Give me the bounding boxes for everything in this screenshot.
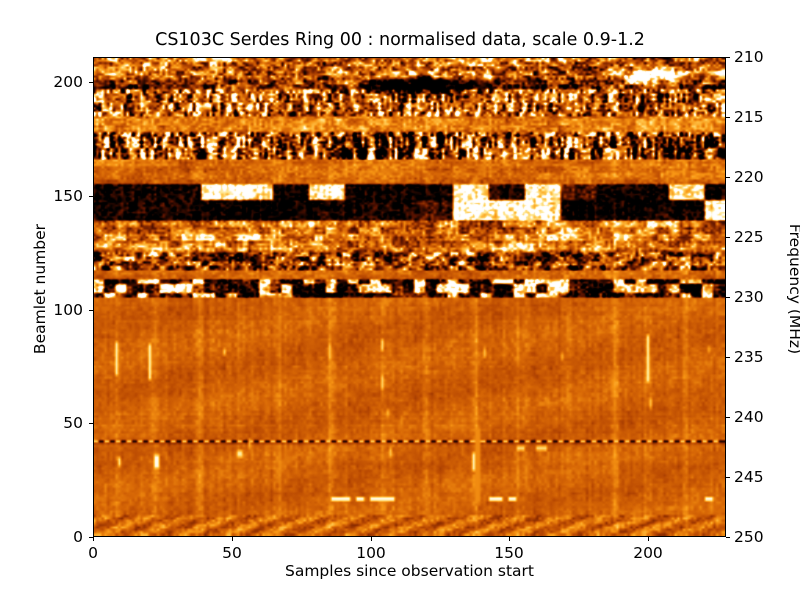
x-tick-mark	[509, 537, 510, 541]
x-tick-label: 100	[331, 544, 411, 562]
y-tick-mark-right	[726, 477, 730, 478]
y-tick-mark-left	[89, 310, 93, 311]
y-tick-label-left: 200	[23, 73, 83, 91]
x-tick-mark	[232, 537, 233, 541]
y-tick-mark-right	[726, 417, 730, 418]
y-tick-label-right: 225	[734, 228, 794, 246]
x-tick-label: 0	[53, 544, 133, 562]
y-tick-mark-right	[726, 177, 730, 178]
y-tick-label-left: 50	[23, 414, 83, 432]
y-tick-label-right: 235	[734, 348, 794, 366]
y-tick-mark-right	[726, 237, 730, 238]
axes-frame	[93, 57, 726, 537]
x-tick-mark	[371, 537, 372, 541]
y-tick-label-right: 245	[734, 468, 794, 486]
y-tick-label-right: 220	[734, 168, 794, 186]
y-tick-mark-right	[726, 537, 730, 538]
x-tick-mark	[648, 537, 649, 541]
y-tick-label-right: 230	[734, 288, 794, 306]
x-tick-label: 150	[469, 544, 549, 562]
y-tick-mark-right	[726, 57, 730, 58]
x-tick-label: 200	[608, 544, 688, 562]
y-axis-label-left: Beamlet number	[31, 169, 49, 409]
matplotlib-figure: CS103C Serdes Ring 00 : normalised data,…	[0, 0, 800, 600]
y-tick-mark-right	[726, 357, 730, 358]
page-title: CS103C Serdes Ring 00 : normalised data,…	[0, 30, 800, 50]
y-tick-mark-left	[89, 82, 93, 83]
y-tick-mark-left	[89, 423, 93, 424]
y-tick-mark-right	[726, 297, 730, 298]
y-tick-label-right: 210	[734, 48, 794, 66]
y-tick-mark-right	[726, 117, 730, 118]
x-axis-label: Samples since observation start	[93, 562, 726, 580]
y-tick-label-left: 0	[23, 528, 83, 546]
y-axis-label-right: Frequency (MHz)	[786, 169, 800, 409]
y-tick-mark-left	[89, 196, 93, 197]
y-tick-label-right: 250	[734, 528, 794, 546]
y-tick-label-right: 215	[734, 108, 794, 126]
y-tick-label-right: 240	[734, 408, 794, 426]
y-tick-mark-left	[89, 537, 93, 538]
x-tick-mark	[93, 537, 94, 541]
x-tick-label: 50	[192, 544, 272, 562]
